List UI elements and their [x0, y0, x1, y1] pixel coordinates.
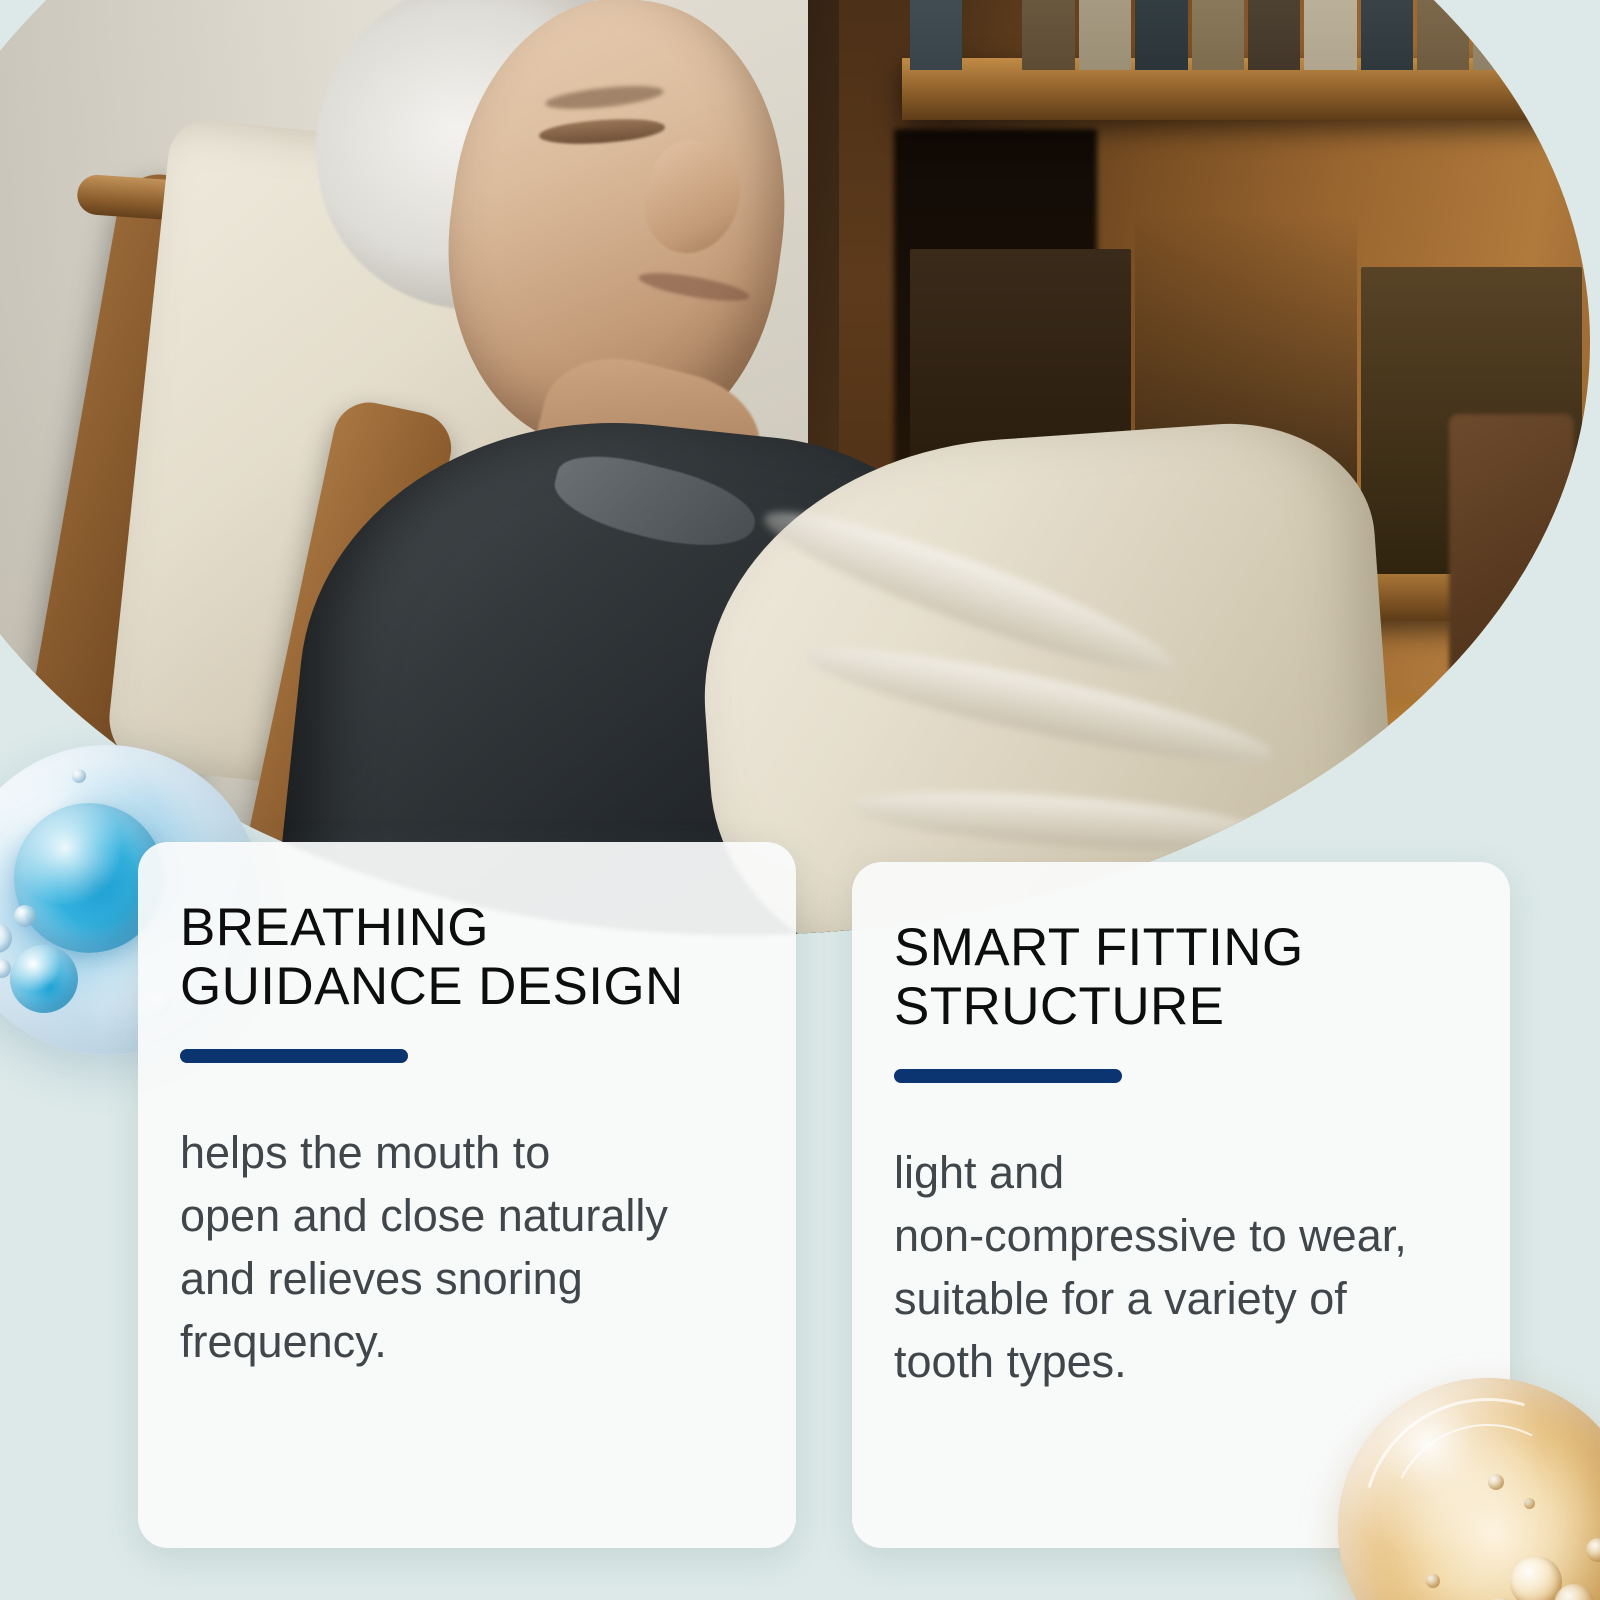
card-title: BREATHING GUIDANCE DESIGN	[180, 898, 752, 1017]
card-body: helps the mouth to open and close natura…	[180, 1121, 752, 1373]
background-chair	[1449, 414, 1574, 675]
book-row	[910, 0, 1583, 70]
accent-bar	[180, 1049, 408, 1063]
card-title: SMART FITTING STRUCTURE	[894, 918, 1466, 1037]
accent-bar	[894, 1069, 1122, 1083]
feature-card-breathing-guidance: BREATHING GUIDANCE DESIGN helps the mout…	[138, 842, 796, 1548]
infographic-canvas: BREATHING GUIDANCE DESIGN helps the mout…	[0, 0, 1600, 1600]
card-body: light and non-compressive to wear, suita…	[894, 1141, 1466, 1393]
hero-photo	[0, 0, 1590, 935]
hero-photo-circle	[0, 0, 1590, 935]
sphere-inner-bead	[10, 945, 78, 1013]
